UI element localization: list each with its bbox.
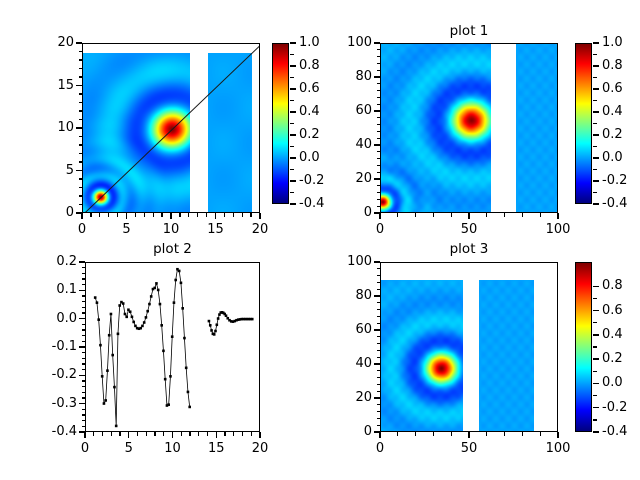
x-tick-minor (198, 432, 199, 436)
x-tick-label: 0 (355, 223, 405, 236)
x-tick-minor (108, 213, 109, 217)
y-tick-label: 100 (316, 36, 372, 49)
data-point-marker (99, 344, 102, 347)
data-point-marker (180, 282, 183, 285)
colorbar-tick (593, 88, 599, 89)
x-tick-minor (93, 432, 94, 436)
x-tick-minor (144, 213, 145, 217)
data-point-marker (113, 386, 116, 389)
data-point-marker (115, 425, 118, 428)
colorbar-tick-minor (290, 169, 294, 170)
y-tick-label: -0.3 (21, 397, 77, 410)
x-tick-minor (119, 432, 120, 436)
x-tick-minor (486, 213, 487, 217)
data-point-marker (131, 316, 134, 319)
data-point-marker (157, 289, 160, 292)
y-tick-minor (82, 409, 86, 410)
y-tick-label: 0 (316, 425, 372, 438)
colorbar-tick (593, 65, 599, 66)
x-tick-label: 10 (148, 442, 198, 455)
x-tick-minor (522, 432, 523, 436)
y-tick-minor (79, 76, 83, 77)
y-tick-minor (79, 51, 83, 52)
x-tick-minor (197, 213, 198, 217)
data-point-marker (143, 321, 146, 324)
x-tick-label: 50 (444, 442, 494, 455)
x-tick-label: 0 (57, 223, 107, 236)
x-tick-label: 50 (444, 223, 494, 236)
x-tick-minor (557, 432, 558, 436)
colorbar-tick-minor (593, 100, 597, 101)
y-tick-minor (82, 312, 86, 313)
x-tick-minor (540, 213, 541, 217)
x-tick-minor (135, 213, 136, 217)
y-tick-minor (377, 302, 381, 303)
colorbar-tick-minor (593, 322, 597, 323)
data-point-marker (209, 324, 212, 327)
colorbar-tick-label: 0.2 (602, 128, 623, 141)
y-tick-major (374, 397, 380, 398)
y-tick-major (374, 363, 380, 364)
y-tick-label: 80 (316, 289, 372, 302)
x-tick-minor (117, 213, 118, 217)
data-point-marker (208, 320, 211, 323)
figure-canvas: 05101520 05101520 1.00.80.60.40.20.0-0.2… (0, 0, 640, 480)
colorbar-tick-minor (290, 100, 294, 101)
data-point-marker (183, 337, 186, 340)
colorbar-tick-label: 0.0 (602, 151, 623, 164)
x-tick-minor (215, 213, 216, 217)
x-tick-minor (504, 432, 505, 436)
heatmap-patch (381, 280, 463, 432)
x-tick-minor (242, 213, 243, 217)
colorbar-tick (593, 383, 599, 384)
x-tick-minor (128, 432, 129, 436)
y-tick-major (79, 346, 85, 347)
y-tick-minor (377, 131, 381, 132)
colorbar-tick-minor (290, 54, 294, 55)
x-tick-minor (451, 213, 452, 217)
data-point-marker (141, 325, 144, 328)
colorbar-tick (290, 203, 296, 204)
colorbar-tick-minor (593, 395, 597, 396)
colorbar-tick (593, 42, 599, 43)
y-tick-minor (82, 397, 86, 398)
colorbar-tick-label: -0.4 (602, 197, 627, 210)
x-tick-minor (259, 432, 260, 436)
colorbar-tick (593, 358, 599, 359)
colorbar-tick-label: 1.0 (602, 36, 623, 49)
y-tick-label: 10 (18, 121, 74, 134)
data-point-marker (145, 316, 148, 319)
colorbar-tick-label: 0.2 (602, 352, 623, 365)
y-tick-major (374, 76, 380, 77)
x-tick-minor (233, 432, 234, 436)
data-point-marker (217, 317, 220, 320)
colorbar-tick-label: 0.8 (602, 59, 623, 72)
colorbar-plot-3 (575, 262, 592, 432)
y-tick-minor (377, 404, 381, 405)
y-tick-minor (82, 392, 86, 393)
y-tick-label: -0.1 (21, 340, 77, 353)
data-point-marker (148, 303, 151, 306)
x-tick-minor (468, 213, 469, 217)
y-tick-minor (377, 377, 381, 378)
colorbar-tick-label: 0.8 (602, 279, 623, 292)
y-tick-label: 40 (316, 357, 372, 370)
x-tick-minor (468, 432, 469, 436)
x-tick-label: 100 (533, 223, 583, 236)
colorbar-tick-minor (290, 146, 294, 147)
y-tick-minor (82, 414, 86, 415)
data-point-marker (150, 295, 153, 298)
colorbar-top-left (272, 43, 289, 204)
x-tick-minor (224, 432, 225, 436)
data-point-marker (187, 391, 190, 394)
colorbar-tick (593, 203, 599, 204)
axes-frame-top-left (82, 43, 260, 213)
colorbar-tick-label: 0.6 (602, 304, 623, 317)
y-tick-major (374, 295, 380, 296)
y-tick-minor (377, 158, 381, 159)
colorbar-tick-label: 0.4 (602, 105, 623, 118)
data-point-marker (155, 282, 158, 285)
x-tick-minor (557, 213, 558, 217)
colorbar-tick-minor (290, 123, 294, 124)
y-tick-minor (79, 187, 83, 188)
data-point-marker (117, 333, 120, 336)
colorbar-tick-minor (593, 346, 597, 347)
y-tick-label: 20 (316, 172, 372, 185)
colorbar-tick-minor (593, 54, 597, 55)
y-tick-minor (377, 138, 381, 139)
x-tick-label: 0 (60, 442, 110, 455)
x-tick-minor (146, 432, 147, 436)
data-point-marker (160, 324, 163, 327)
y-tick-minor (377, 172, 381, 173)
data-point-marker (173, 301, 176, 304)
y-tick-major (79, 261, 85, 262)
y-tick-major (76, 170, 82, 171)
axes-frame-plot-1 (380, 43, 558, 213)
y-tick-minor (377, 104, 381, 105)
y-tick-minor (377, 151, 381, 152)
x-tick-label: 5 (102, 223, 152, 236)
y-tick-minor (79, 136, 83, 137)
x-tick-minor (188, 213, 189, 217)
y-tick-minor (82, 307, 86, 308)
x-tick-label: 20 (235, 442, 285, 455)
y-tick-minor (377, 97, 381, 98)
y-tick-label: 80 (316, 70, 372, 83)
data-point-marker (134, 325, 137, 328)
x-tick-minor (189, 432, 190, 436)
colorbar-tick (290, 157, 296, 158)
heatmap-patch (208, 53, 253, 214)
data-point-marker (106, 369, 109, 372)
x-tick-minor (111, 432, 112, 436)
y-tick-label: 0.2 (21, 255, 77, 268)
y-tick-minor (82, 324, 86, 325)
y-tick-minor (377, 49, 381, 50)
y-tick-minor (377, 268, 381, 269)
colorbar-tick (593, 180, 599, 181)
data-point-marker (153, 287, 156, 290)
colorbar-tick (593, 334, 599, 335)
data-point-marker (181, 307, 184, 310)
x-tick-minor (181, 432, 182, 436)
x-tick-minor (126, 213, 127, 217)
y-tick-minor (377, 411, 381, 412)
y-tick-minor (377, 192, 381, 193)
colorbar-tick (593, 111, 599, 112)
data-point-marker (225, 314, 228, 317)
data-point-marker (111, 354, 114, 357)
y-tick-label: 60 (316, 104, 372, 117)
y-tick-major (374, 329, 380, 330)
y-tick-minor (82, 380, 86, 381)
colorbar-tick (593, 157, 599, 158)
x-tick-minor (259, 213, 260, 217)
y-tick-minor (377, 206, 381, 207)
y-tick-label: 0.0 (21, 312, 77, 325)
subplot-top-left: 05101520 05101520 1.00.80.60.40.20.0-0.2… (0, 0, 320, 240)
y-tick-minor (82, 267, 86, 268)
colorbar-gradient (576, 263, 591, 431)
data-point-marker (174, 279, 177, 282)
data-point-marker (97, 318, 100, 321)
x-tick-minor (102, 432, 103, 436)
colorbar-tick-minor (593, 77, 597, 78)
data-point-marker (146, 310, 149, 313)
subplot-title-plot-2: plot 2 (85, 242, 260, 256)
y-tick-label: 40 (316, 138, 372, 151)
x-tick-label: 5 (104, 442, 154, 455)
x-tick-minor (250, 213, 251, 217)
x-tick-minor (170, 213, 171, 217)
y-tick-minor (377, 185, 381, 186)
colorbar-tick (593, 286, 599, 287)
x-tick-minor (486, 432, 487, 436)
y-tick-minor (377, 350, 381, 351)
subplot-bottom-left: plot 2 0.20.10.0-0.1-0.2-0.3-0.4 0510152… (0, 240, 320, 480)
x-tick-minor (415, 213, 416, 217)
y-tick-major (374, 110, 380, 111)
x-tick-minor (451, 432, 452, 436)
y-tick-minor (79, 144, 83, 145)
data-point-marker (251, 318, 254, 321)
x-tick-label: 15 (191, 223, 241, 236)
colorbar-tick-minor (593, 192, 597, 193)
y-tick-minor (79, 102, 83, 103)
data-point-marker (216, 323, 219, 326)
y-tick-minor (82, 301, 86, 302)
y-tick-minor (79, 119, 83, 120)
data-point-marker (122, 302, 125, 305)
line-path (95, 269, 190, 426)
y-tick-minor (79, 110, 83, 111)
y-tick-minor (377, 117, 381, 118)
y-tick-label: -0.2 (21, 368, 77, 381)
y-tick-minor (79, 195, 83, 196)
colorbar-tick-minor (593, 169, 597, 170)
y-tick-minor (79, 93, 83, 94)
data-point-marker (132, 321, 135, 324)
y-tick-label: -0.4 (21, 425, 77, 438)
subplot-bottom-right: plot 3 020406080100 050100 0.80.60.40.20… (320, 240, 640, 480)
y-tick-minor (82, 420, 86, 421)
y-tick-minor (377, 336, 381, 337)
x-tick-minor (172, 432, 173, 436)
x-tick-minor (163, 432, 164, 436)
x-tick-label: 20 (235, 223, 285, 236)
x-tick-minor (161, 213, 162, 217)
x-tick-minor (242, 432, 243, 436)
y-tick-minor (82, 363, 86, 364)
axes-frame-plot-2 (85, 262, 260, 432)
data-point-marker (169, 375, 172, 378)
colorbar-tick-label: 0.6 (299, 82, 320, 95)
x-tick-minor (153, 213, 154, 217)
y-tick-major (374, 178, 380, 179)
y-tick-minor (82, 284, 86, 285)
y-tick-label: 5 (18, 164, 74, 177)
y-tick-minor (79, 161, 83, 162)
x-tick-minor (540, 432, 541, 436)
x-tick-minor (379, 213, 380, 217)
colorbar-tick-label: 0.4 (602, 328, 623, 341)
y-tick-minor (82, 358, 86, 359)
x-tick-label: 10 (146, 223, 196, 236)
colorbar-tick-label: 0.0 (299, 151, 320, 164)
data-point-marker (125, 316, 128, 319)
x-tick-minor (224, 213, 225, 217)
colorbar-gradient (576, 44, 591, 203)
x-tick-minor (90, 213, 91, 217)
colorbar-tick-minor (593, 298, 597, 299)
y-tick-minor (377, 384, 381, 385)
colorbar-tick-minor (593, 146, 597, 147)
x-tick-minor (522, 213, 523, 217)
y-tick-minor (82, 278, 86, 279)
y-tick-minor (377, 199, 381, 200)
y-tick-minor (377, 282, 381, 283)
y-tick-minor (79, 204, 83, 205)
data-point-marker (129, 310, 132, 313)
y-tick-major (79, 403, 85, 404)
x-tick-minor (379, 432, 380, 436)
y-tick-minor (377, 56, 381, 57)
y-tick-minor (82, 426, 86, 427)
y-tick-major (76, 85, 82, 86)
y-tick-major (76, 42, 82, 43)
colorbar-tick-label: -0.2 (602, 174, 627, 187)
y-tick-minor (377, 323, 381, 324)
x-tick-minor (397, 213, 398, 217)
y-tick-label: 15 (18, 79, 74, 92)
y-tick-minor (377, 90, 381, 91)
y-tick-minor (82, 273, 86, 274)
x-tick-minor (179, 213, 180, 217)
x-tick-minor (251, 432, 252, 436)
y-tick-label: 0 (316, 206, 372, 219)
x-tick-minor (137, 432, 138, 436)
y-tick-major (374, 261, 380, 262)
data-point-marker (124, 313, 127, 316)
y-tick-minor (82, 329, 86, 330)
y-tick-minor (377, 357, 381, 358)
x-tick-minor (415, 432, 416, 436)
data-point-marker (103, 402, 106, 405)
colorbar-tick-label: 0.6 (602, 82, 623, 95)
data-point-marker (162, 350, 165, 353)
colorbar-tick (290, 42, 296, 43)
y-tick-label: 0.1 (21, 283, 77, 296)
colorbar-plot-1 (575, 43, 592, 204)
y-tick-label: 20 (18, 36, 74, 49)
colorbar-tick (593, 310, 599, 311)
data-point-marker (178, 270, 181, 273)
data-point-marker (164, 378, 167, 381)
y-tick-minor (79, 68, 83, 69)
colorbar-tick-label: -0.2 (602, 401, 627, 414)
data-point-marker (167, 403, 170, 406)
y-tick-minor (377, 425, 381, 426)
y-tick-minor (377, 343, 381, 344)
data-point-marker (110, 313, 113, 316)
colorbar-tick (593, 407, 599, 408)
data-point-marker (118, 304, 121, 307)
x-tick-label: 0 (355, 442, 405, 455)
data-point-marker (171, 335, 174, 338)
y-tick-minor (377, 70, 381, 71)
y-tick-major (79, 290, 85, 291)
colorbar-tick-minor (593, 419, 597, 420)
x-tick-minor (99, 213, 100, 217)
axes-frame-plot-3 (380, 262, 558, 432)
colorbar-tick (290, 111, 296, 112)
y-tick-label: 0 (18, 206, 74, 219)
y-tick-major (374, 42, 380, 43)
x-tick-minor (206, 213, 207, 217)
x-tick-minor (81, 213, 82, 217)
y-tick-minor (377, 165, 381, 166)
x-tick-minor (154, 432, 155, 436)
colorbar-tick-minor (593, 123, 597, 124)
colorbar-tick (593, 431, 599, 432)
data-point-marker (139, 327, 142, 330)
subplot-top-right: plot 1 020406080100 050100 1.00.80.60.40… (320, 0, 640, 240)
colorbar-tick-minor (290, 192, 294, 193)
y-tick-minor (377, 316, 381, 317)
y-tick-minor (82, 341, 86, 342)
y-tick-major (374, 144, 380, 145)
heatmap-patch (516, 44, 558, 213)
y-tick-label: 60 (316, 323, 372, 336)
colorbar-tick-minor (290, 77, 294, 78)
y-tick-minor (82, 352, 86, 353)
colorbar-tick-minor (593, 371, 597, 372)
heatmap-patch (479, 280, 534, 432)
y-tick-minor (377, 275, 381, 276)
data-point-marker (185, 367, 188, 370)
y-tick-minor (377, 289, 381, 290)
y-tick-minor (79, 153, 83, 154)
y-tick-minor (377, 309, 381, 310)
colorbar-tick-label: -0.4 (602, 425, 627, 438)
y-tick-minor (79, 178, 83, 179)
data-point-marker (96, 301, 99, 304)
